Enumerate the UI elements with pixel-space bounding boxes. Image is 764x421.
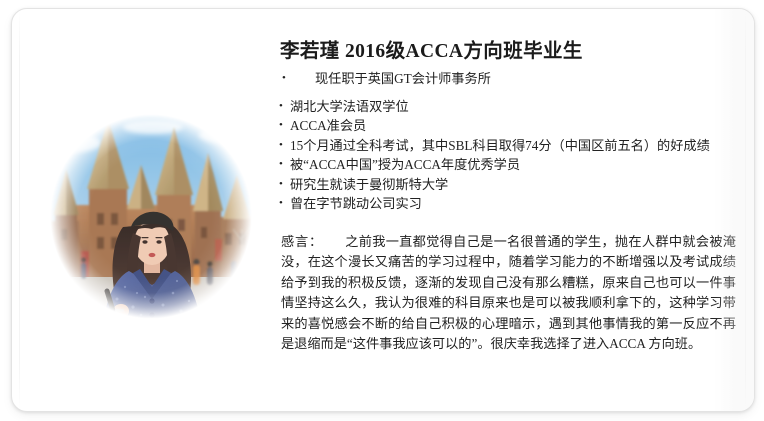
graduate-portrait-photo <box>45 109 257 324</box>
list-item: 被“ACCA中国”授为ACCA年度优秀学员 <box>277 155 747 175</box>
list-item: 研究生就读于曼彻斯特大学 <box>277 175 747 195</box>
testimonial-label: 感言： <box>281 234 323 249</box>
content-column: 李若瑾 2016级ACCA方向班毕业生 现任职于英国GT会计师事务所 湖北大学法… <box>277 39 747 355</box>
list-item: 湖北大学法语双学位 <box>277 97 747 117</box>
list-item: 现任职于英国GT会计师事务所 <box>277 69 747 89</box>
slide-card: 李若瑾 2016级ACCA方向班毕业生 现任职于英国GT会计师事务所 湖北大学法… <box>11 8 755 412</box>
list-item: ACCA准会员 <box>277 116 747 136</box>
testimonial-body: 之前我一直都觉得自己是一名很普通的学生，抛在人群中就会被淹没，在这个漫长又痛苦的… <box>281 234 736 352</box>
page-title: 李若瑾 2016级ACCA方向班毕业生 <box>280 39 747 65</box>
achievement-list: 现任职于英国GT会计师事务所 湖北大学法语双学位 ACCA准会员 15个月通过全… <box>277 69 747 214</box>
page-edge-line-left <box>19 9 20 411</box>
testimonial-paragraph: 感言：之前我一直都觉得自己是一名很普通的学生，抛在人群中就会被淹没，在这个漫长又… <box>281 232 736 356</box>
slide-canvas: 李若瑾 2016级ACCA方向班毕业生 现任职于英国GT会计师事务所 湖北大学法… <box>0 0 764 421</box>
list-item: 曾在字节跳动公司实习 <box>277 194 747 214</box>
list-item: 15个月通过全科考试，其中SBL科目取得74分（中国区前五名）的好成绩 <box>277 136 747 156</box>
